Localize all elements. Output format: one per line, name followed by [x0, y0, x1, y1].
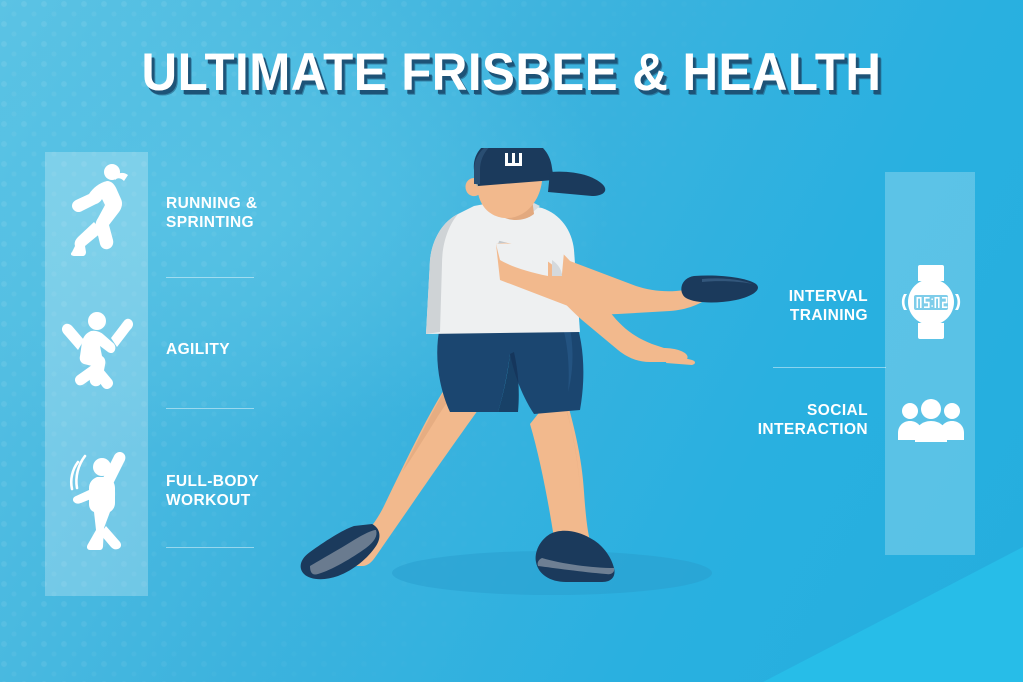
stopwatch-icon: [900, 263, 962, 341]
shoe-right: [536, 531, 615, 582]
divider-right-1: [773, 367, 886, 368]
right-icon-panel: [885, 172, 975, 555]
cap-logo: [505, 153, 522, 166]
left-item-label-running-line1: RUNNING & SPRINTING: [166, 195, 257, 231]
divider-left-1: [166, 277, 254, 278]
left-item-label-full-body-text: FULL-BODY WORKOUT: [166, 473, 259, 509]
page-title: ULTIMATE FRISBEE & HEALTH: [36, 46, 987, 99]
right-item-label-interval-text: INTERVAL TRAINING: [789, 288, 868, 324]
running-figure-icon: [58, 160, 138, 260]
stretching-figure-icon: [58, 434, 140, 552]
left-item-label-agility-text: AGILITY: [166, 341, 230, 358]
divider-left-2: [166, 408, 254, 409]
group-people-icon: [896, 398, 966, 442]
infographic-canvas: ULTIMATE FRISBEE & HEALTH: [0, 0, 1023, 682]
ultimate-frisbee-player-illustration: [262, 148, 782, 600]
divider-left-3: [166, 547, 254, 548]
jumping-figure-icon: [56, 302, 138, 394]
